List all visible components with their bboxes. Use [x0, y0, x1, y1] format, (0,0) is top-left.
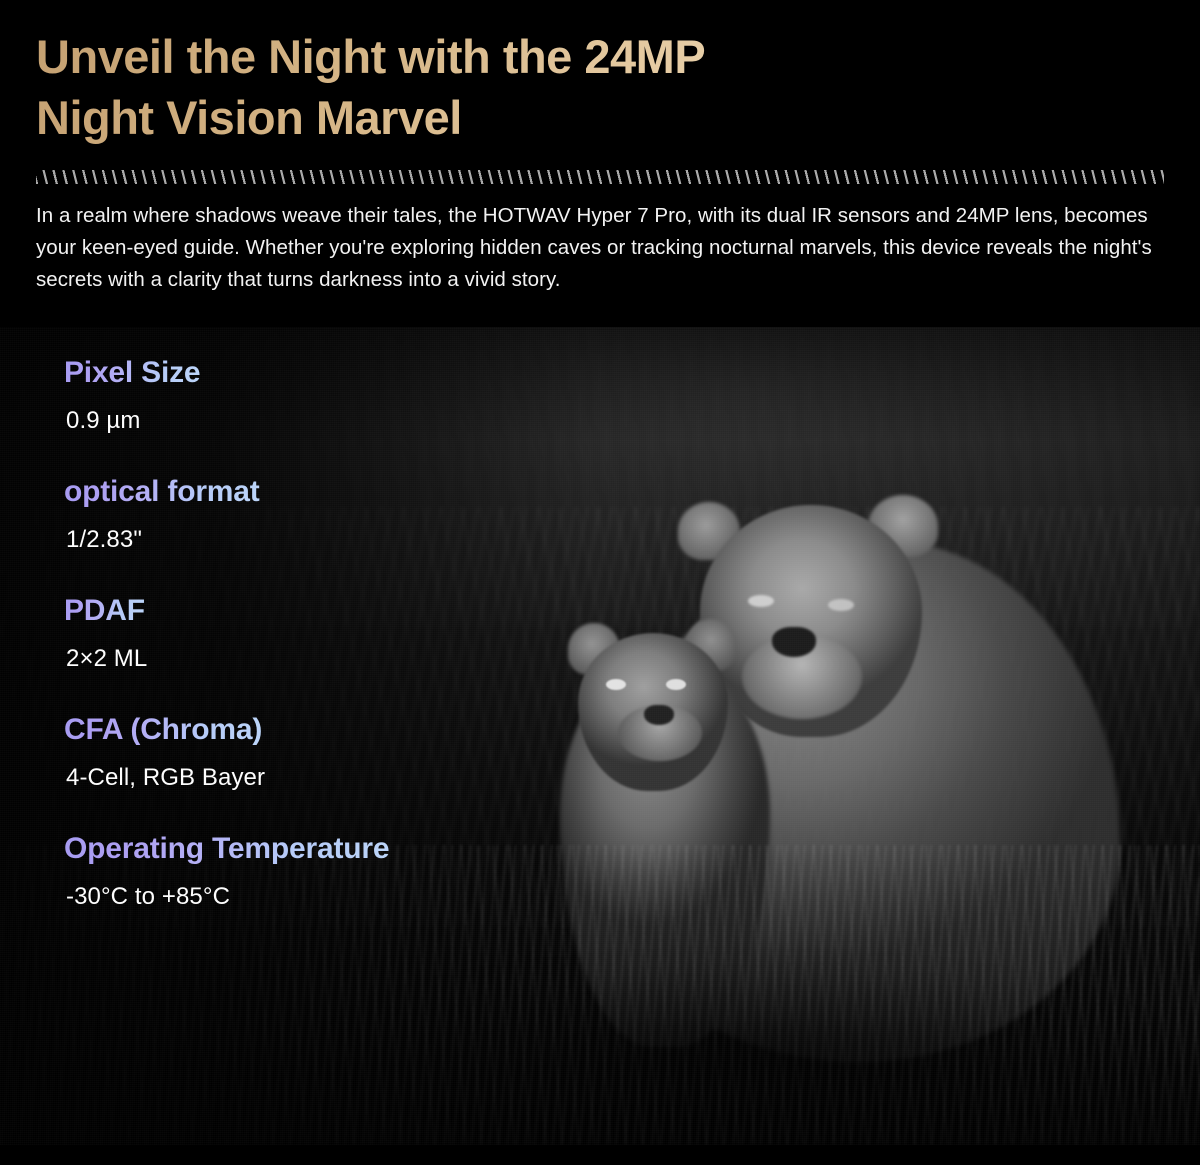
zigzag-tick-divider	[36, 170, 1164, 184]
spec-value: 1/2.83"	[66, 525, 620, 555]
product-feature-page: Unveil the Night with the 24MP Night Vis…	[0, 0, 1200, 1165]
hero-section: Unveil the Night with the 24MP Night Vis…	[0, 0, 1200, 327]
spec-row-pixel-size: Pixel Size 0.9 µm	[64, 353, 620, 436]
spec-label: PDAF	[64, 591, 145, 631]
spec-row-pdaf: PDAF 2×2 ML	[64, 591, 620, 674]
spec-list: Pixel Size 0.9 µm optical format 1/2.83"…	[0, 327, 620, 912]
bottom-black-bar	[0, 1145, 1200, 1165]
spec-label: optical format	[64, 472, 260, 512]
spec-value: 2×2 ML	[66, 644, 620, 674]
night-vision-photo-panel: Pixel Size 0.9 µm optical format 1/2.83"…	[0, 327, 1200, 1145]
spec-value: 4-Cell, RGB Bayer	[66, 763, 620, 793]
hero-description: In a realm where shadows weave their tal…	[36, 200, 1172, 296]
spec-label: Operating Temperature	[64, 829, 389, 869]
spec-row-operating-temperature: Operating Temperature -30°C to +85°C	[64, 829, 620, 912]
spec-value: 0.9 µm	[66, 406, 620, 436]
spec-row-optical-format: optical format 1/2.83"	[64, 472, 620, 555]
spec-label: CFA (Chroma)	[64, 710, 262, 750]
spec-row-cfa-chroma: CFA (Chroma) 4-Cell, RGB Bayer	[64, 710, 620, 793]
spec-label: Pixel Size	[64, 353, 200, 393]
page-title: Unveil the Night with the 24MP Night Vis…	[36, 26, 1164, 148]
spec-value: -30°C to +85°C	[66, 882, 620, 912]
